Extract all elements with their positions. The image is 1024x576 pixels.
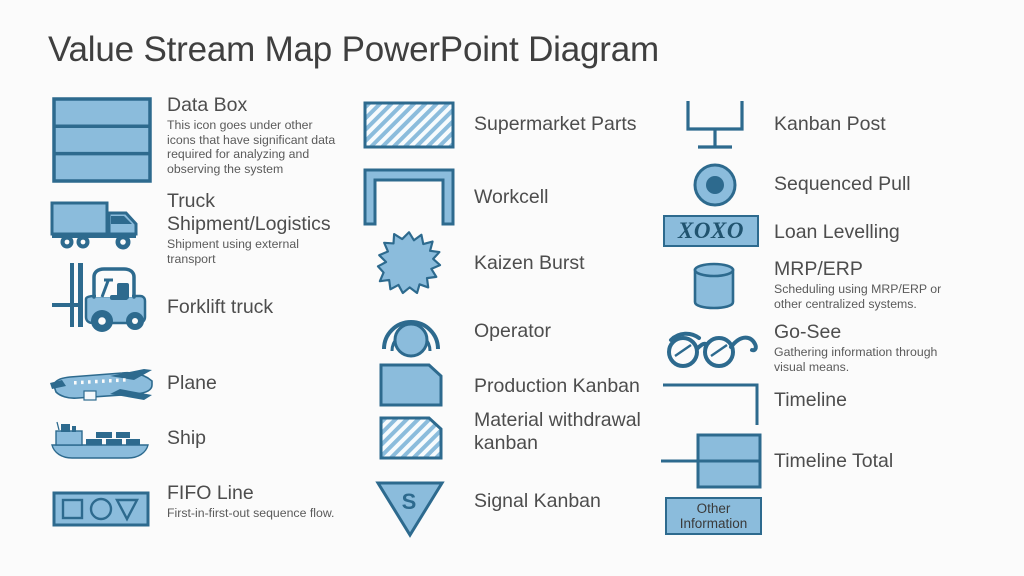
data-box-text-block: Data Box This icon goes under other icon… [167, 94, 342, 176]
other-information-line1: Other [680, 501, 748, 516]
signal-kanban-label: Signal Kanban [474, 490, 601, 513]
page-title: Value Stream Map PowerPoint Diagram [48, 30, 659, 70]
timeline-text-block: Timeline [774, 389, 847, 412]
kaizen-burst-text-block: Kaizen Burst [474, 252, 585, 275]
signal-kanban-icon: S [376, 481, 444, 537]
kaizen-burst-label: Kaizen Burst [474, 252, 585, 275]
supermarket-parts-label: Supermarket Parts [474, 113, 637, 136]
operator-label: Operator [474, 320, 551, 343]
production-kanban-label: Production Kanban [474, 375, 640, 398]
workcell-icon [363, 168, 455, 226]
operator-icon [380, 307, 442, 357]
loan-levelling-glyph: XOXO [678, 218, 744, 244]
fifo-line-icon [52, 491, 150, 527]
supermarket-parts-text-block: Supermarket Parts [474, 113, 637, 136]
workcell-text-block: Workcell [474, 186, 548, 209]
timeline-total-label: Timeline Total [774, 450, 893, 473]
other-information-text: Other Information [680, 501, 748, 531]
truck-description: Shipment using external transport [167, 237, 347, 266]
timeline-total-text-block: Timeline Total [774, 450, 893, 473]
kanban-post-text-block: Kanban Post [774, 113, 886, 136]
forklift-text-block: Forklift truck [167, 296, 273, 319]
mrp-erp-icon [692, 262, 736, 310]
sequenced-pull-label: Sequenced Pull [774, 173, 911, 196]
fifo-text-block: FIFO Line First-in-first-out sequence fl… [167, 482, 337, 521]
ship-icon [48, 419, 156, 461]
material-kanban-text-block: Material withdrawal kanban [474, 409, 664, 455]
material-withdrawal-kanban-icon [379, 416, 443, 460]
ship-text-block: Ship [167, 427, 206, 450]
workcell-label: Workcell [474, 186, 548, 209]
other-information-line2: Information [680, 516, 748, 531]
loan-levelling-icon: XOXO [663, 215, 759, 247]
timeline-label: Timeline [774, 389, 847, 412]
go-see-icon [665, 330, 761, 370]
go-see-text-block: Go-See Gathering information through vis… [774, 321, 959, 374]
kanban-post-icon [684, 99, 746, 151]
data-box-description: This icon goes under other icons that ha… [167, 118, 342, 176]
kaizen-burst-icon [363, 231, 455, 293]
slide-canvas: Value Stream Map PowerPoint Diagram Data… [0, 0, 1024, 576]
forklift-truck-icon [50, 261, 155, 333]
truck-icon [50, 200, 150, 250]
fifo-label: FIFO Line [167, 482, 337, 505]
loan-levelling-text-block: Loan Levelling [774, 221, 900, 244]
operator-text-block: Operator [474, 320, 551, 343]
plane-text-block: Plane [167, 372, 217, 395]
other-information-icon: Other Information [665, 497, 762, 535]
supermarket-parts-icon [363, 101, 455, 149]
plane-label: Plane [167, 372, 217, 395]
loan-levelling-label: Loan Levelling [774, 221, 900, 244]
timeline-total-icon [661, 433, 763, 489]
truck-label: Truck Shipment/Logistics [167, 190, 347, 236]
mrp-erp-description: Scheduling using MRP/ERP or other centra… [774, 282, 959, 311]
forklift-label: Forklift truck [167, 296, 273, 319]
timeline-icon [661, 381, 761, 427]
data-box-icon [52, 97, 152, 183]
mrp-erp-label: MRP/ERP [774, 258, 959, 281]
plane-icon [48, 368, 156, 404]
ship-label: Ship [167, 427, 206, 450]
signal-kanban-glyph: S [402, 489, 417, 514]
go-see-label: Go-See [774, 321, 959, 344]
signal-kanban-text-block: Signal Kanban [474, 490, 601, 513]
data-box-label: Data Box [167, 94, 342, 117]
mrp-erp-text-block: MRP/ERP Scheduling using MRP/ERP or othe… [774, 258, 959, 311]
production-kanban-text-block: Production Kanban [474, 375, 640, 398]
sequenced-pull-text-block: Sequenced Pull [774, 173, 911, 196]
fifo-description: First-in-first-out sequence flow. [167, 506, 337, 521]
sequenced-pull-icon [693, 163, 737, 207]
go-see-description: Gathering information through visual mea… [774, 345, 959, 374]
material-kanban-label: Material withdrawal kanban [474, 409, 664, 455]
production-kanban-icon [379, 363, 443, 407]
kanban-post-label: Kanban Post [774, 113, 886, 136]
truck-text-block: Truck Shipment/Logistics Shipment using … [167, 190, 347, 266]
